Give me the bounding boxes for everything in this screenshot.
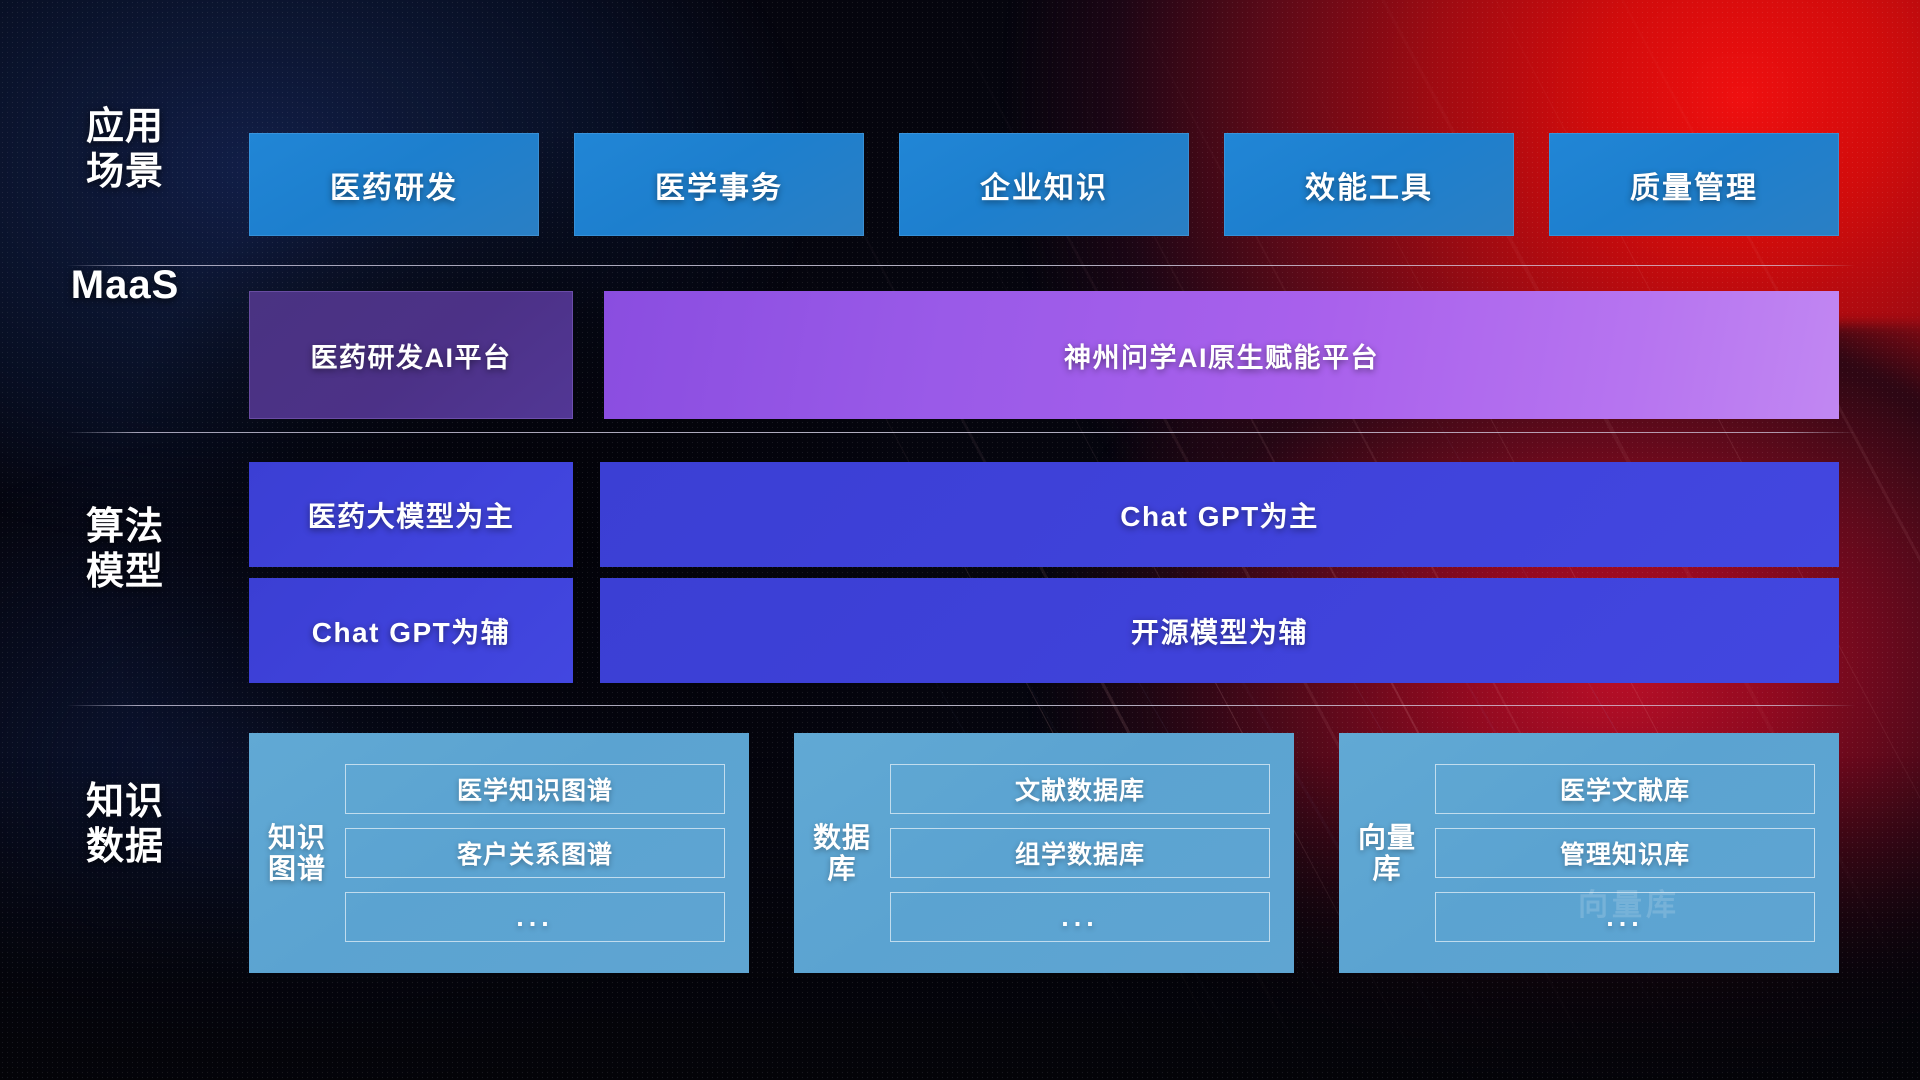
knowledge-group-database-item-1[interactable]: 文献数据库 (890, 764, 1270, 814)
app-scenario-box-2[interactable]: 医学事务 (574, 133, 864, 236)
algo-box-secondary-left[interactable]: Chat GPT为辅 (249, 578, 573, 683)
app-scenario-box-4[interactable]: 效能工具 (1224, 133, 1514, 236)
knowledge-group-vector-item-1[interactable]: 医学文献库 (1435, 764, 1815, 814)
divider-2 (66, 432, 1856, 433)
app-scenario-box-3[interactable]: 企业知识 (899, 133, 1189, 236)
app-scenario-box-1[interactable]: 医药研发 (249, 133, 539, 236)
knowledge-group-graph-item-3[interactable]: ... (345, 892, 725, 942)
divider-3 (66, 705, 1856, 706)
knowledge-group-graph-item-2[interactable]: 客户关系图谱 (345, 828, 725, 878)
algo-box-primary-right[interactable]: Chat GPT为主 (600, 462, 1839, 567)
knowledge-group-database-item-2[interactable]: 组学数据库 (890, 828, 1270, 878)
knowledge-group-vector-title: 向量 库 (1339, 733, 1435, 973)
algo-box-secondary-right[interactable]: 开源模型为辅 (600, 578, 1839, 683)
knowledge-group-graph-item-1[interactable]: 医学知识图谱 (345, 764, 725, 814)
row-label-algorithm-model: 算法 模型 (60, 505, 190, 595)
row-label-maas: MaaS (50, 262, 200, 309)
knowledge-group-vector-item-2[interactable]: 管理知识库 (1435, 828, 1815, 878)
maas-enablement-platform-box[interactable]: 神州问学AI原生赋能平台 (604, 291, 1839, 419)
divider-1 (66, 265, 1856, 266)
knowledge-group-graph[interactable]: 知识 图谱 医学知识图谱 客户关系图谱 ... (249, 733, 749, 973)
knowledge-group-graph-title: 知识 图谱 (249, 733, 345, 973)
knowledge-group-vector-item-3[interactable]: ... (1435, 892, 1815, 942)
row-label-knowledge-data: 知识 数据 (60, 780, 190, 870)
app-scenario-box-5[interactable]: 质量管理 (1549, 133, 1839, 236)
architecture-diagram: 应用 场景 MaaS 算法 模型 知识 数据 医药研发 医学事务 企业知识 效能… (0, 0, 1920, 1080)
knowledge-group-database[interactable]: 数据 库 文献数据库 组学数据库 ... (794, 733, 1294, 973)
maas-platform-box[interactable]: 医药研发AI平台 (249, 291, 573, 419)
knowledge-group-database-item-3[interactable]: ... (890, 892, 1270, 942)
knowledge-group-database-title: 数据 库 (794, 733, 890, 973)
algo-box-primary-left[interactable]: 医药大模型为主 (249, 462, 573, 567)
knowledge-group-vector[interactable]: 向量 库 医学文献库 管理知识库 ... (1339, 733, 1839, 973)
row-label-application-scenarios: 应用 场景 (60, 105, 190, 195)
